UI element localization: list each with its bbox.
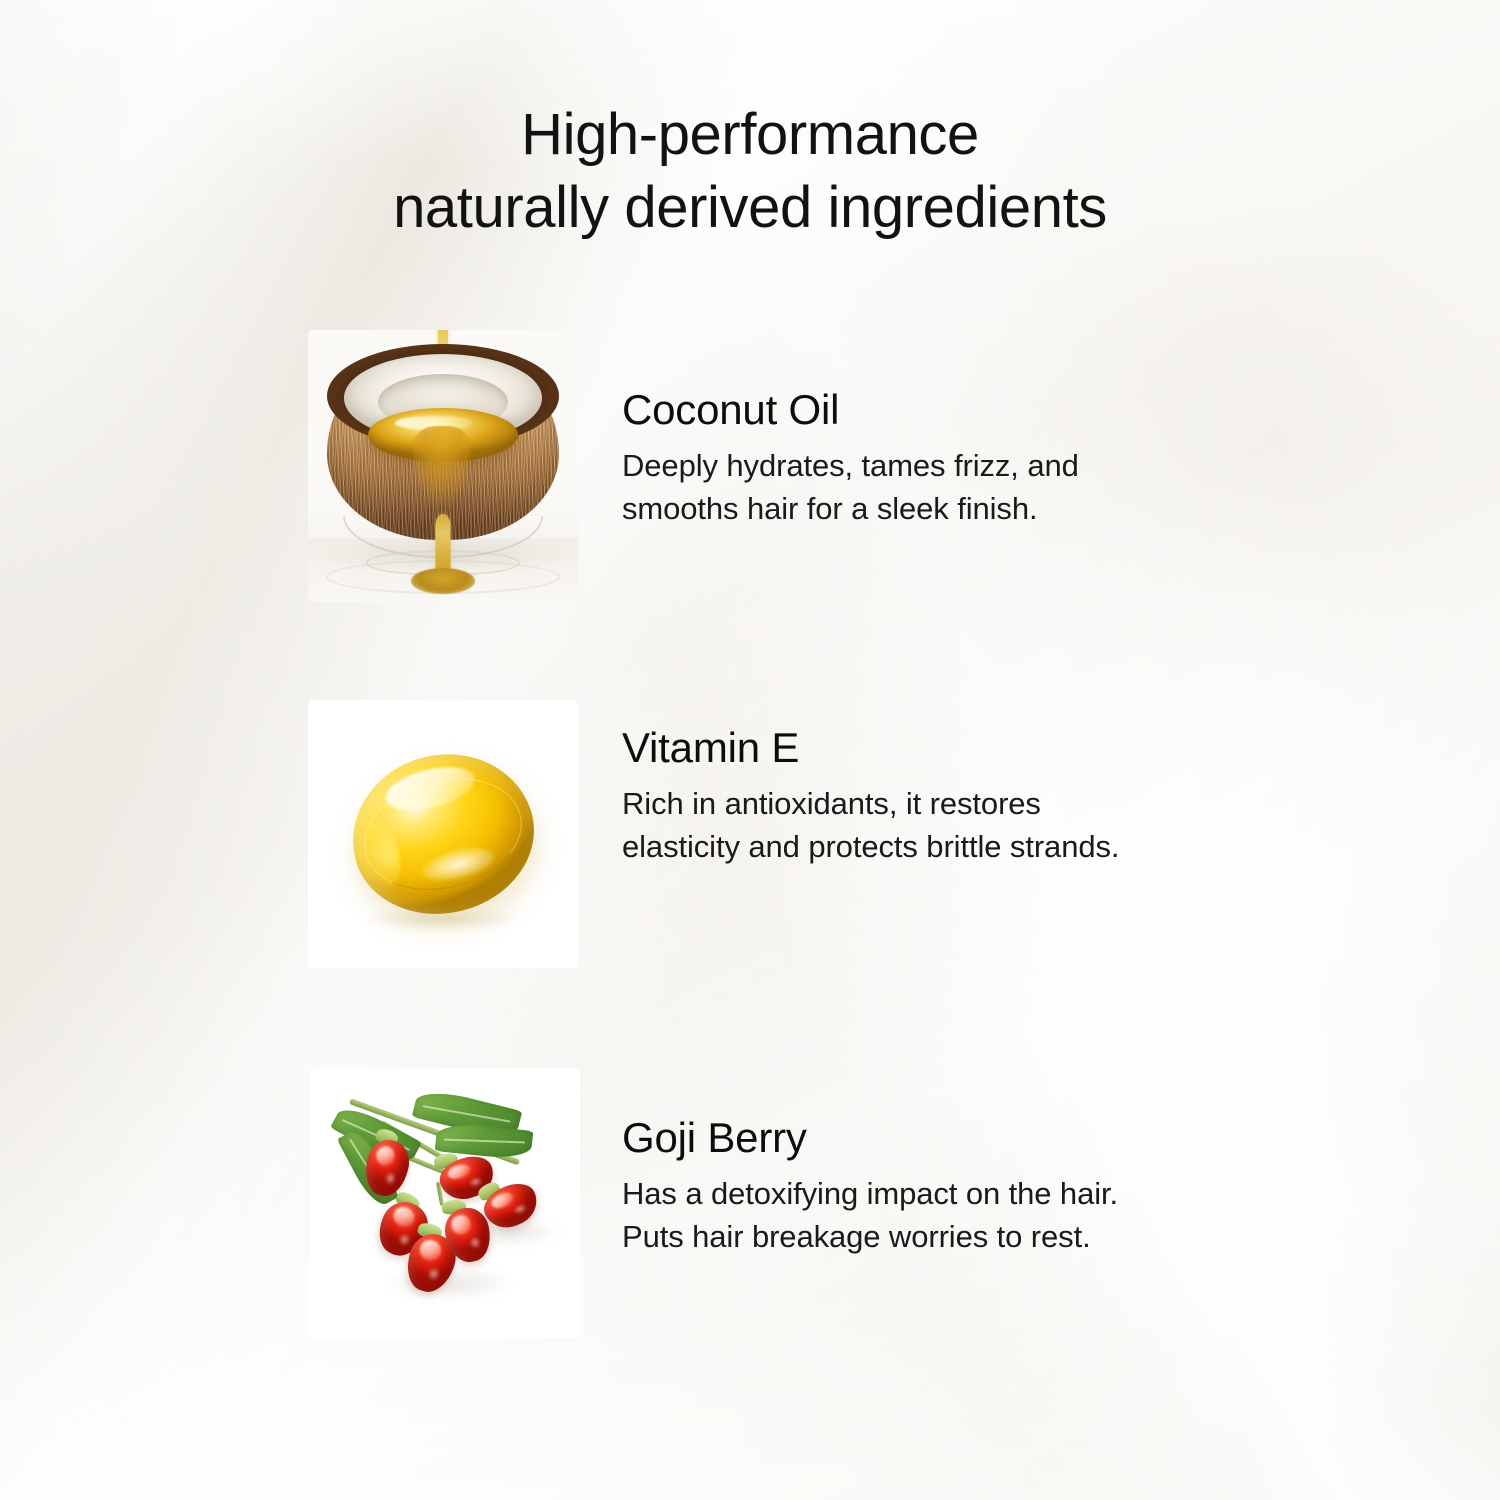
page-title: High-performance naturally derived ingre… [0,98,1500,244]
desc-line-2: elasticity and protects brittle strands. [622,825,1382,868]
ingredient-description-vitamin-e: Rich in antioxidants, it restores elasti… [622,782,1382,868]
berry-highlight [418,1237,443,1262]
oil-splash-pool [411,568,475,594]
goji-berry-copy: Goji Berry Has a detoxifying impact on t… [622,1114,1382,1258]
vitamin-e-copy: Vitamin E Rich in antioxidants, it resto… [622,724,1382,868]
ingredient-row-coconut-oil: Coconut Oil Deeply hydrates, tames frizz… [0,330,1500,610]
berry-secondary-highlight [396,1232,412,1248]
desc-line-1: Has a detoxifying impact on the hair. [622,1172,1382,1215]
goji-berry-photo [310,1068,580,1338]
goji-berry-illustration [310,1068,580,1338]
coconut-oil-photo [308,330,578,602]
berry-highlight [374,1144,396,1166]
ingredients-infographic: High-performance naturally derived ingre… [0,0,1500,1500]
ingredient-name-coconut-oil: Coconut Oil [622,386,1382,434]
coconut-oil-copy: Coconut Oil Deeply hydrates, tames frizz… [622,386,1382,530]
page-title-line-2: naturally derived ingredients [0,171,1500,244]
coconut-oil-illustration [308,330,578,602]
berry-secondary-highlight [512,1202,528,1216]
ingredient-description-goji-berry: Has a detoxifying impact on the hair. Pu… [622,1172,1382,1258]
berry-secondary-highlight [426,1266,441,1282]
vitamin-e-illustration [308,700,578,968]
desc-line-2: Puts hair breakage worries to rest. [622,1215,1382,1258]
berry-secondary-highlight [469,1236,483,1250]
ingredient-description-coconut-oil: Deeply hydrates, tames frizz, and smooth… [622,444,1382,530]
berry-highlight [391,1204,417,1229]
vitamin-e-capsule-photo [308,700,578,968]
ingredient-name-vitamin-e: Vitamin E [622,724,1382,772]
berry-highlight [489,1189,516,1211]
page-title-line-1: High-performance [0,98,1500,171]
berry-secondary-highlight [384,1171,397,1185]
berry-highlight [446,1162,473,1182]
berry-highlight [450,1214,473,1236]
desc-line-2: smooths hair for a sleek finish. [622,487,1382,530]
desc-line-1: Deeply hydrates, tames frizz, and [622,444,1382,487]
ingredient-row-goji-berry: Goji Berry Has a detoxifying impact on t… [0,1068,1500,1348]
desc-line-1: Rich in antioxidants, it restores [622,782,1382,825]
ingredient-name-goji-berry: Goji Berry [622,1114,1382,1162]
ingredient-row-vitamin-e: Vitamin E Rich in antioxidants, it resto… [0,700,1500,980]
